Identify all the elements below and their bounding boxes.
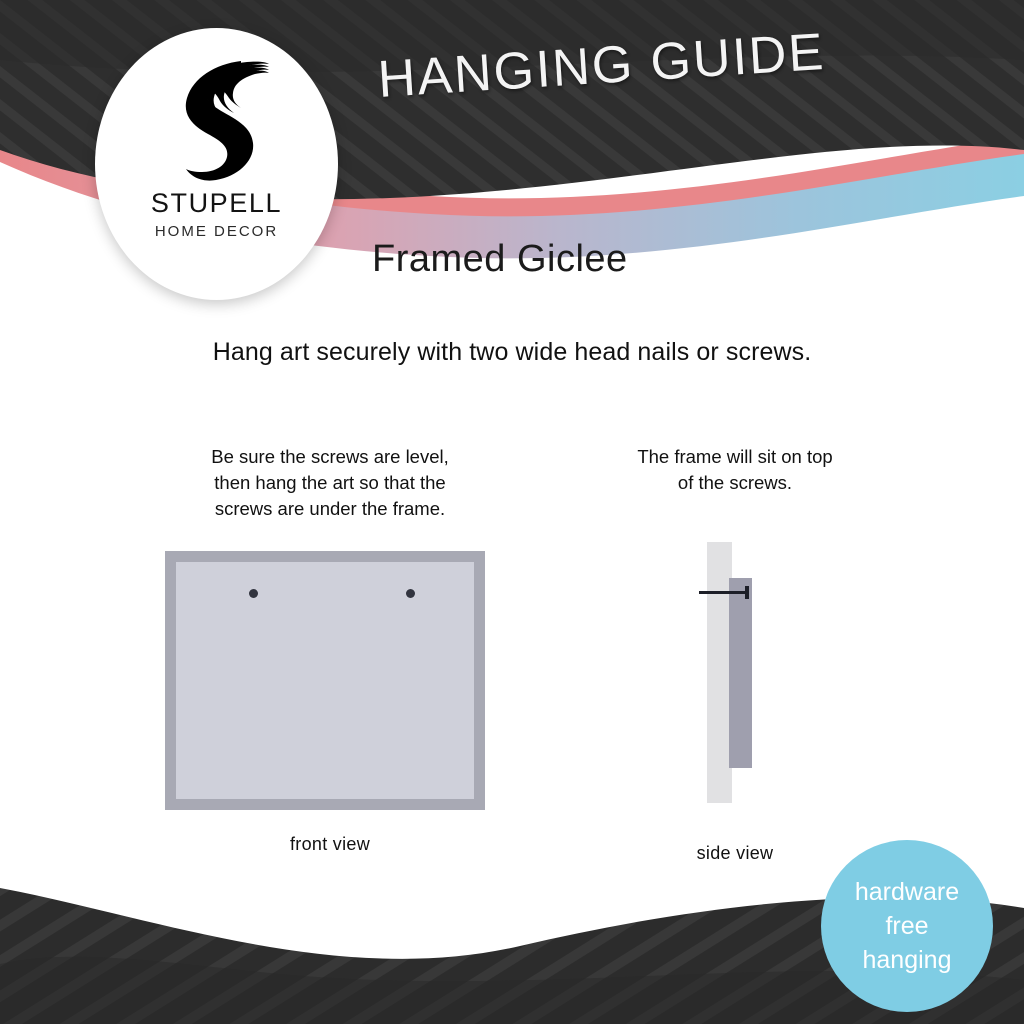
hanging-guide-page: HANGING GUIDE STUPELL HOME DECOR Framed …: [0, 0, 1024, 1024]
front-caption-line-1: Be sure the screws are level,: [130, 444, 530, 470]
screw-dot-right: [406, 589, 415, 598]
screw-dot-left: [249, 589, 258, 598]
side-view-caption: The frame will sit on top of the screws.: [585, 444, 885, 496]
stupell-swoosh-logo-icon: [163, 54, 271, 182]
side-view-label: side view: [585, 843, 885, 864]
badge-line-3: hanging: [863, 943, 952, 977]
badge-line-2: free: [885, 909, 928, 943]
product-name: Framed Giclee: [372, 238, 628, 281]
front-view-label: front view: [130, 834, 530, 855]
front-caption-line-2: then hang the art so that the: [130, 470, 530, 496]
side-caption-line-2: of the screws.: [585, 470, 885, 496]
front-view-diagram: Be sure the screws are level, then hang …: [130, 444, 530, 522]
nail-head-icon: [745, 586, 749, 599]
brand-logo-badge: STUPELL HOME DECOR: [95, 28, 338, 300]
side-caption-line-1: The frame will sit on top: [585, 444, 885, 470]
front-caption-line-3: screws are under the frame.: [130, 496, 530, 522]
page-title: HANGING GUIDE: [376, 22, 827, 110]
picture-frame-front-illustration: [165, 551, 485, 810]
badge-line-1: hardware: [855, 875, 959, 909]
frame-profile: [729, 578, 752, 768]
front-view-caption: Be sure the screws are level, then hang …: [130, 444, 530, 522]
hardware-free-hanging-badge: hardware free hanging: [821, 840, 993, 1012]
frame-artwork-area: [176, 562, 474, 799]
main-instruction-text: Hang art securely with two wide head nai…: [0, 338, 1024, 367]
frame-side-illustration: [693, 542, 783, 812]
nail-shaft-icon: [699, 591, 747, 594]
logo-wordmark: STUPELL: [151, 188, 282, 219]
logo-subtext: HOME DECOR: [155, 223, 278, 240]
side-view-diagram: The frame will sit on top of the screws.: [585, 444, 885, 496]
diagram-section: Be sure the screws are level, then hang …: [0, 444, 1024, 874]
